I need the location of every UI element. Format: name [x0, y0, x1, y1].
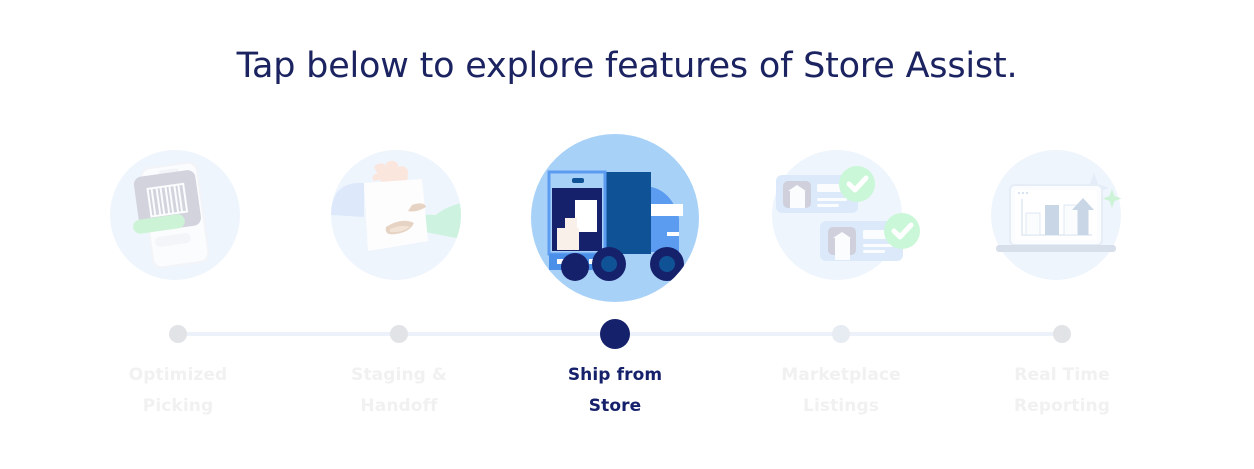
shopping-bag-handoff-icon[interactable] [299, 128, 499, 308]
listing-cards-check-icon[interactable] [741, 128, 941, 308]
carousel-dot-staging-handoff[interactable] [390, 325, 408, 343]
carousel-dot-optimized-picking[interactable] [169, 325, 187, 343]
carousel-label-staging-handoff[interactable]: Staging & Handoff [289, 360, 509, 422]
carousel-step-real-time-reporting[interactable] [962, 128, 1162, 308]
carousel-label-optimized-picking[interactable]: Optimized Picking [68, 360, 288, 422]
carousel-dot-real-time-reporting[interactable] [1053, 325, 1071, 343]
label-line-1: Real Time [952, 360, 1172, 391]
label-line-2: Store [505, 391, 725, 422]
label-line-2: Handoff [289, 391, 509, 422]
delivery-truck-icon[interactable] [515, 118, 715, 318]
label-line-1: Marketplace [731, 360, 951, 391]
label-line-1: Ship from [505, 360, 725, 391]
carousel-label-real-time-reporting[interactable]: Real Time Reporting [952, 360, 1172, 422]
store-assist-feature-carousel: Tap below to explore features of Store A… [0, 0, 1254, 469]
label-line-2: Picking [68, 391, 288, 422]
feature-carousel: Optimized Picking Staging & Handoff Ship… [0, 0, 1254, 469]
label-line-2: Reporting [952, 391, 1172, 422]
carousel-step-marketplace-listings[interactable] [741, 128, 941, 308]
carousel-dot-ship-from-store[interactable] [600, 319, 630, 349]
label-line-1: Optimized [68, 360, 288, 391]
barcode-scanner-icon[interactable] [78, 128, 278, 308]
carousel-step-optimized-picking[interactable] [78, 128, 278, 308]
carousel-dot-marketplace-listings[interactable] [832, 325, 850, 343]
carousel-label-ship-from-store[interactable]: Ship from Store [505, 360, 725, 422]
laptop-chart-icon[interactable] [962, 128, 1162, 308]
carousel-step-ship-from-store[interactable] [515, 118, 715, 318]
label-line-2: Listings [731, 391, 951, 422]
carousel-step-staging-handoff[interactable] [299, 128, 499, 308]
label-line-1: Staging & [289, 360, 509, 391]
carousel-label-marketplace-listings[interactable]: Marketplace Listings [731, 360, 951, 422]
